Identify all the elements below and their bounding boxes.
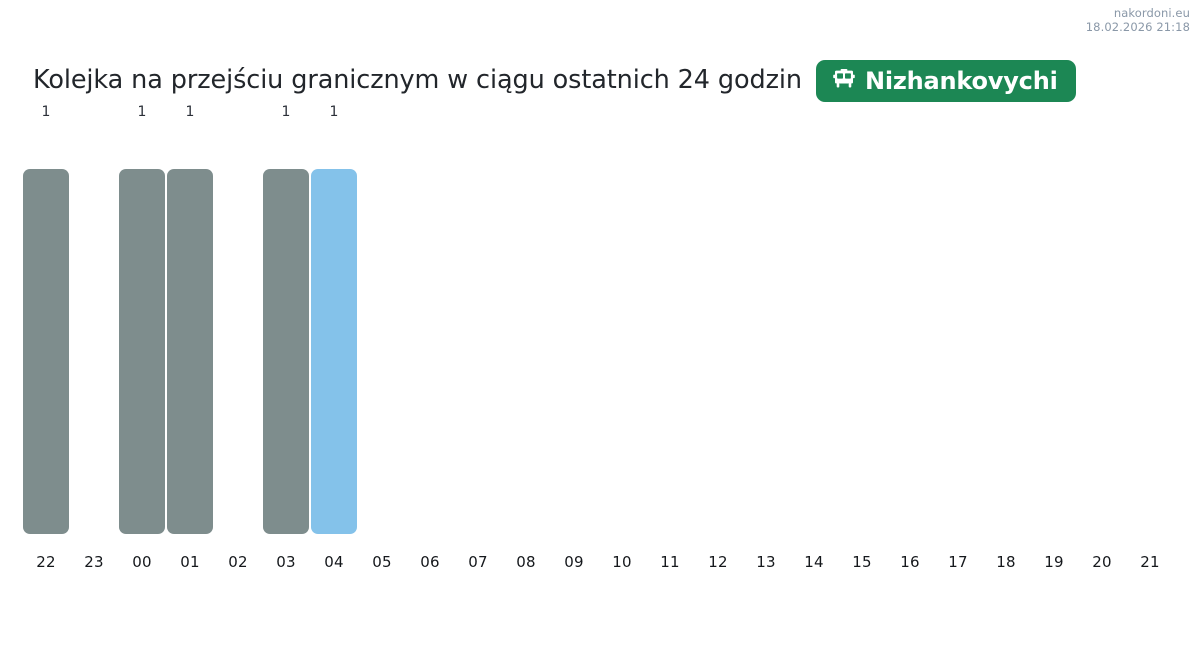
bar[interactable]: 1 <box>119 169 165 534</box>
bar-slot[interactable] <box>694 130 742 534</box>
bar[interactable]: 1 <box>23 169 69 534</box>
page-title: Kolejka na przejściu granicznym w ciągu … <box>33 68 802 94</box>
watermark: nakordoni.eu 18.02.2026 21:18 <box>1086 6 1190 35</box>
x-axis-tick: 18 <box>982 555 1030 570</box>
bar-slot[interactable] <box>550 130 598 534</box>
bar-slot[interactable]: 1 <box>166 130 214 534</box>
x-axis-tick: 01 <box>166 555 214 570</box>
x-axis-tick: 04 <box>310 555 358 570</box>
bar-slot[interactable] <box>502 130 550 534</box>
bar-slot[interactable] <box>70 130 118 534</box>
bar-chart: 11111 2223000102030405060708091011121314… <box>22 130 1182 600</box>
bar-slot[interactable] <box>454 130 502 534</box>
bar-slot[interactable]: 1 <box>22 130 70 534</box>
bar-value-label: 1 <box>166 105 214 130</box>
x-axis-tick: 07 <box>454 555 502 570</box>
bar[interactable]: 1 <box>263 169 309 534</box>
station-badge-label: Nizhankovychi <box>865 69 1058 93</box>
x-axis-tick: 15 <box>838 555 886 570</box>
bars-container: 11111 <box>22 130 1174 534</box>
bar-slot[interactable] <box>1030 130 1078 534</box>
bar-slot[interactable] <box>598 130 646 534</box>
x-axis-labels: 2223000102030405060708091011121314151617… <box>22 555 1174 570</box>
bar-value-label: 1 <box>22 105 70 130</box>
bar-slot[interactable] <box>742 130 790 534</box>
bar-slot[interactable] <box>838 130 886 534</box>
x-axis-tick: 13 <box>742 555 790 570</box>
bar[interactable]: 1 <box>167 169 213 534</box>
x-axis-tick: 05 <box>358 555 406 570</box>
x-axis-tick: 10 <box>598 555 646 570</box>
bar-slot[interactable] <box>982 130 1030 534</box>
bar-value-label: 1 <box>262 105 310 130</box>
x-axis-tick: 09 <box>550 555 598 570</box>
bar-highlighted[interactable]: 1 <box>311 169 357 534</box>
x-axis-tick: 22 <box>22 555 70 570</box>
x-axis-tick: 12 <box>694 555 742 570</box>
bar-slot[interactable] <box>406 130 454 534</box>
bar-value-label: 1 <box>118 105 166 130</box>
watermark-site: nakordoni.eu <box>1086 6 1190 20</box>
bar-slot[interactable] <box>886 130 934 534</box>
x-axis-tick: 16 <box>886 555 934 570</box>
x-axis-tick: 20 <box>1078 555 1126 570</box>
x-axis-tick: 06 <box>406 555 454 570</box>
bar-slot[interactable]: 1 <box>118 130 166 534</box>
bus-icon <box>832 67 856 95</box>
bar-slot[interactable] <box>358 130 406 534</box>
chart-header: Kolejka na przejściu granicznym w ciągu … <box>33 58 1180 104</box>
bar-slot[interactable] <box>1078 130 1126 534</box>
x-axis-tick: 00 <box>118 555 166 570</box>
bar-slot[interactable]: 1 <box>310 130 358 534</box>
station-badge[interactable]: Nizhankovychi <box>816 60 1076 102</box>
x-axis-tick: 02 <box>214 555 262 570</box>
bar-slot[interactable] <box>934 130 982 534</box>
bar-value-label: 1 <box>310 105 358 130</box>
x-axis-tick: 21 <box>1126 555 1174 570</box>
bar-slot[interactable] <box>646 130 694 534</box>
x-axis-tick: 08 <box>502 555 550 570</box>
x-axis-tick: 19 <box>1030 555 1078 570</box>
bar-slot[interactable] <box>214 130 262 534</box>
bar-slot[interactable] <box>790 130 838 534</box>
bar-slot[interactable] <box>1126 130 1174 534</box>
x-axis-tick: 23 <box>70 555 118 570</box>
x-axis-tick: 03 <box>262 555 310 570</box>
bar-slot[interactable]: 1 <box>262 130 310 534</box>
x-axis-tick: 11 <box>646 555 694 570</box>
x-axis-tick: 17 <box>934 555 982 570</box>
watermark-timestamp: 18.02.2026 21:18 <box>1086 20 1190 34</box>
x-axis-tick: 14 <box>790 555 838 570</box>
